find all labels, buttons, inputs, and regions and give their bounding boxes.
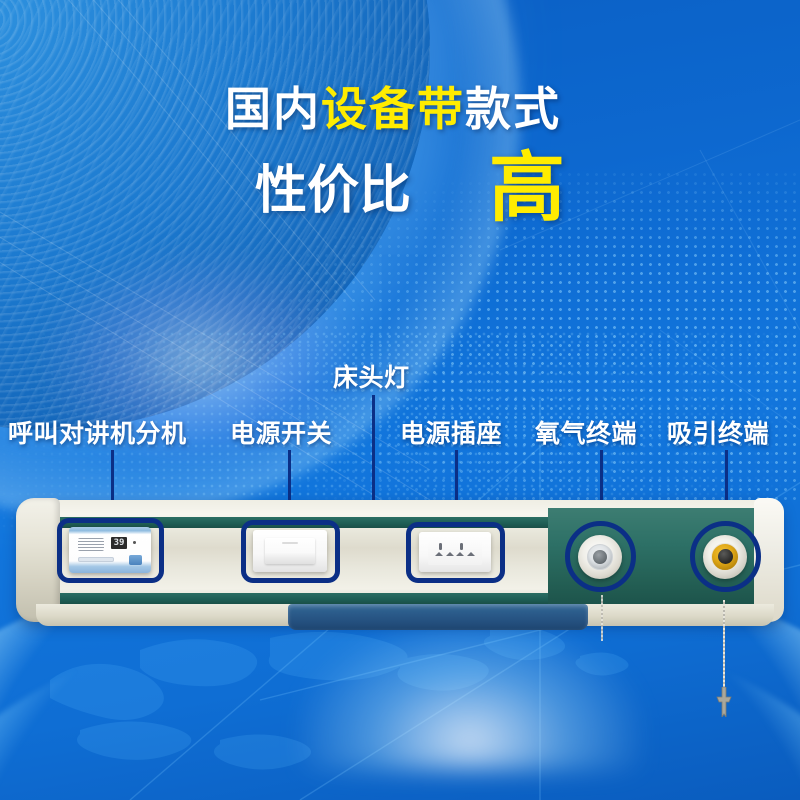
- callout-label-suction-outlet: 吸引终端: [667, 414, 769, 450]
- oxygen-hose-cord: [601, 595, 603, 641]
- suction-pull-cord: [723, 600, 725, 692]
- callout-label-bed-lamp: 床头灯: [333, 358, 410, 394]
- highlight-circle-suction: [690, 521, 761, 592]
- callout-label-oxygen-outlet: 氧气终端: [535, 414, 637, 450]
- highlight-box-power-socket: [406, 522, 505, 583]
- callout-label-intercom: 呼叫对讲机分机: [8, 414, 187, 450]
- callout-label-power-switch: 电源开关: [230, 414, 332, 450]
- highlight-box-intercom: [57, 518, 164, 583]
- cord-pull-handle-icon[interactable]: [713, 687, 735, 717]
- product-promo-image: 国内设备带款式 性价比高 呼叫对讲机分机 电源开关 床头灯 电源插座 氧气终端 …: [0, 0, 800, 800]
- bed-lamp-light-strip: [288, 604, 588, 630]
- callout-label-power-socket: 电源插座: [400, 414, 502, 450]
- highlight-circle-oxygen: [565, 521, 636, 592]
- highlight-box-power-switch: [241, 520, 340, 583]
- bottom-center-glow: [300, 620, 640, 770]
